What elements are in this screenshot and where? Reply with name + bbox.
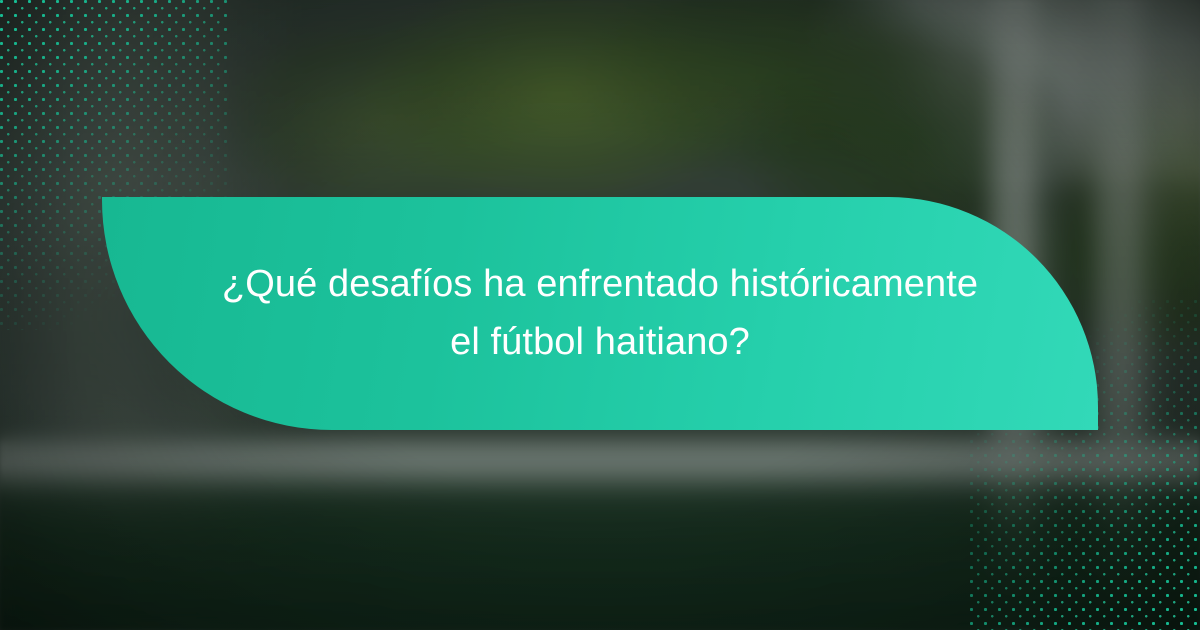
social-card: ¿Qué desafíos ha enfrentado históricamen… bbox=[0, 0, 1200, 630]
question-banner: ¿Qué desafíos ha enfrentado históricamen… bbox=[102, 197, 1098, 430]
headline-text: ¿Qué desafíos ha enfrentado históricamen… bbox=[222, 256, 978, 372]
